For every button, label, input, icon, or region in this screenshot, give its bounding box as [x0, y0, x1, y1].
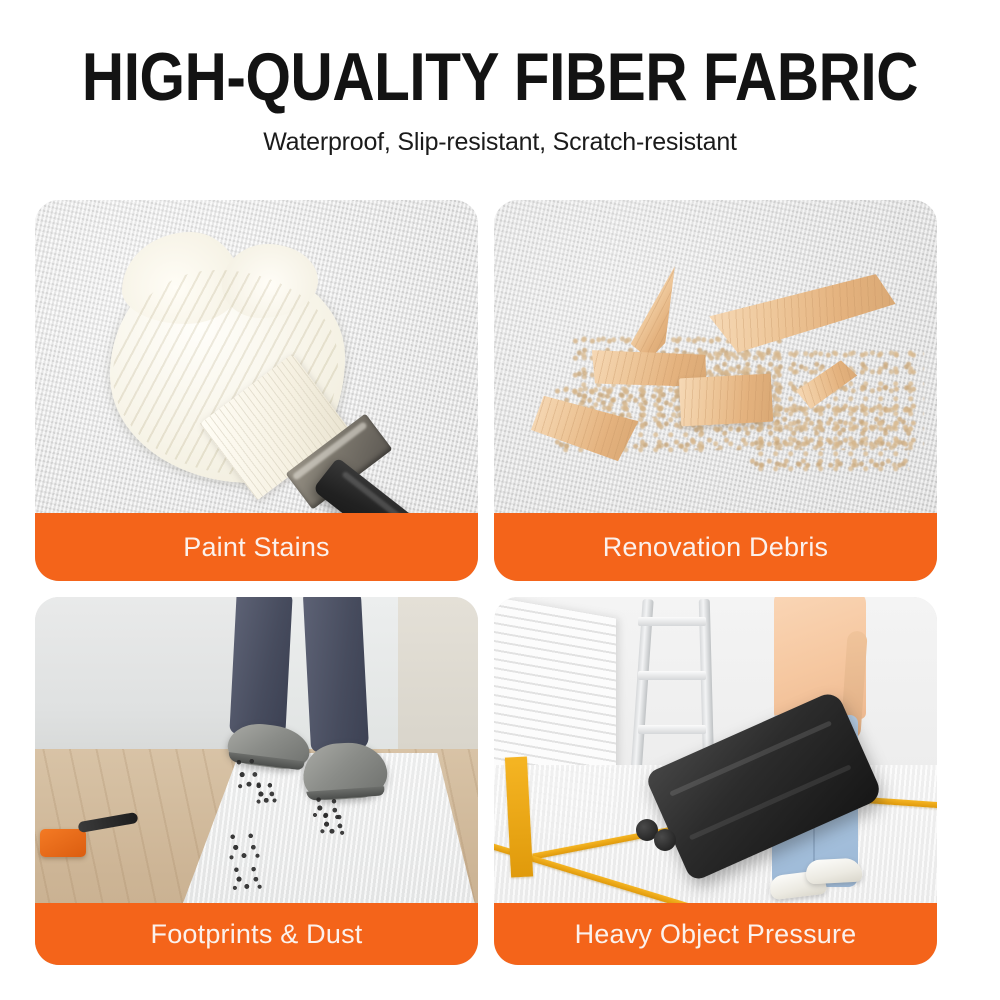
header: HIGH-QUALITY FIBER FABRIC Waterproof, Sl…	[0, 0, 1000, 157]
card-label-text: Paint Stains	[183, 532, 329, 563]
feature-card-grid: Paint Stains Renovation Debris	[35, 200, 937, 965]
card-label-text: Heavy Object Pressure	[575, 919, 857, 950]
card-label-paint-stains: Paint Stains	[35, 513, 478, 581]
feature-card-renovation-debris[interactable]: Renovation Debris	[494, 200, 937, 581]
feature-card-heavy-object-pressure[interactable]: Heavy Object Pressure	[494, 597, 937, 965]
person-sneaker-right	[805, 858, 862, 885]
card-label-renovation-debris: Renovation Debris	[494, 513, 937, 581]
card-label-text: Footprints & Dust	[151, 919, 363, 950]
card-label-text: Renovation Debris	[603, 532, 829, 563]
feature-card-paint-stains[interactable]: Paint Stains	[35, 200, 478, 581]
page-subtitle: Waterproof, Slip-resistant, Scratch-resi…	[0, 128, 1000, 157]
card-label-footprints-dust: Footprints & Dust	[35, 903, 478, 965]
card-label-heavy-object-pressure: Heavy Object Pressure	[494, 903, 937, 965]
feature-card-footprints-dust[interactable]: Footprints & Dust	[35, 597, 478, 965]
orange-tool-icon	[40, 829, 86, 857]
page-title: HIGH-QUALITY FIBER FABRIC	[70, 46, 930, 108]
